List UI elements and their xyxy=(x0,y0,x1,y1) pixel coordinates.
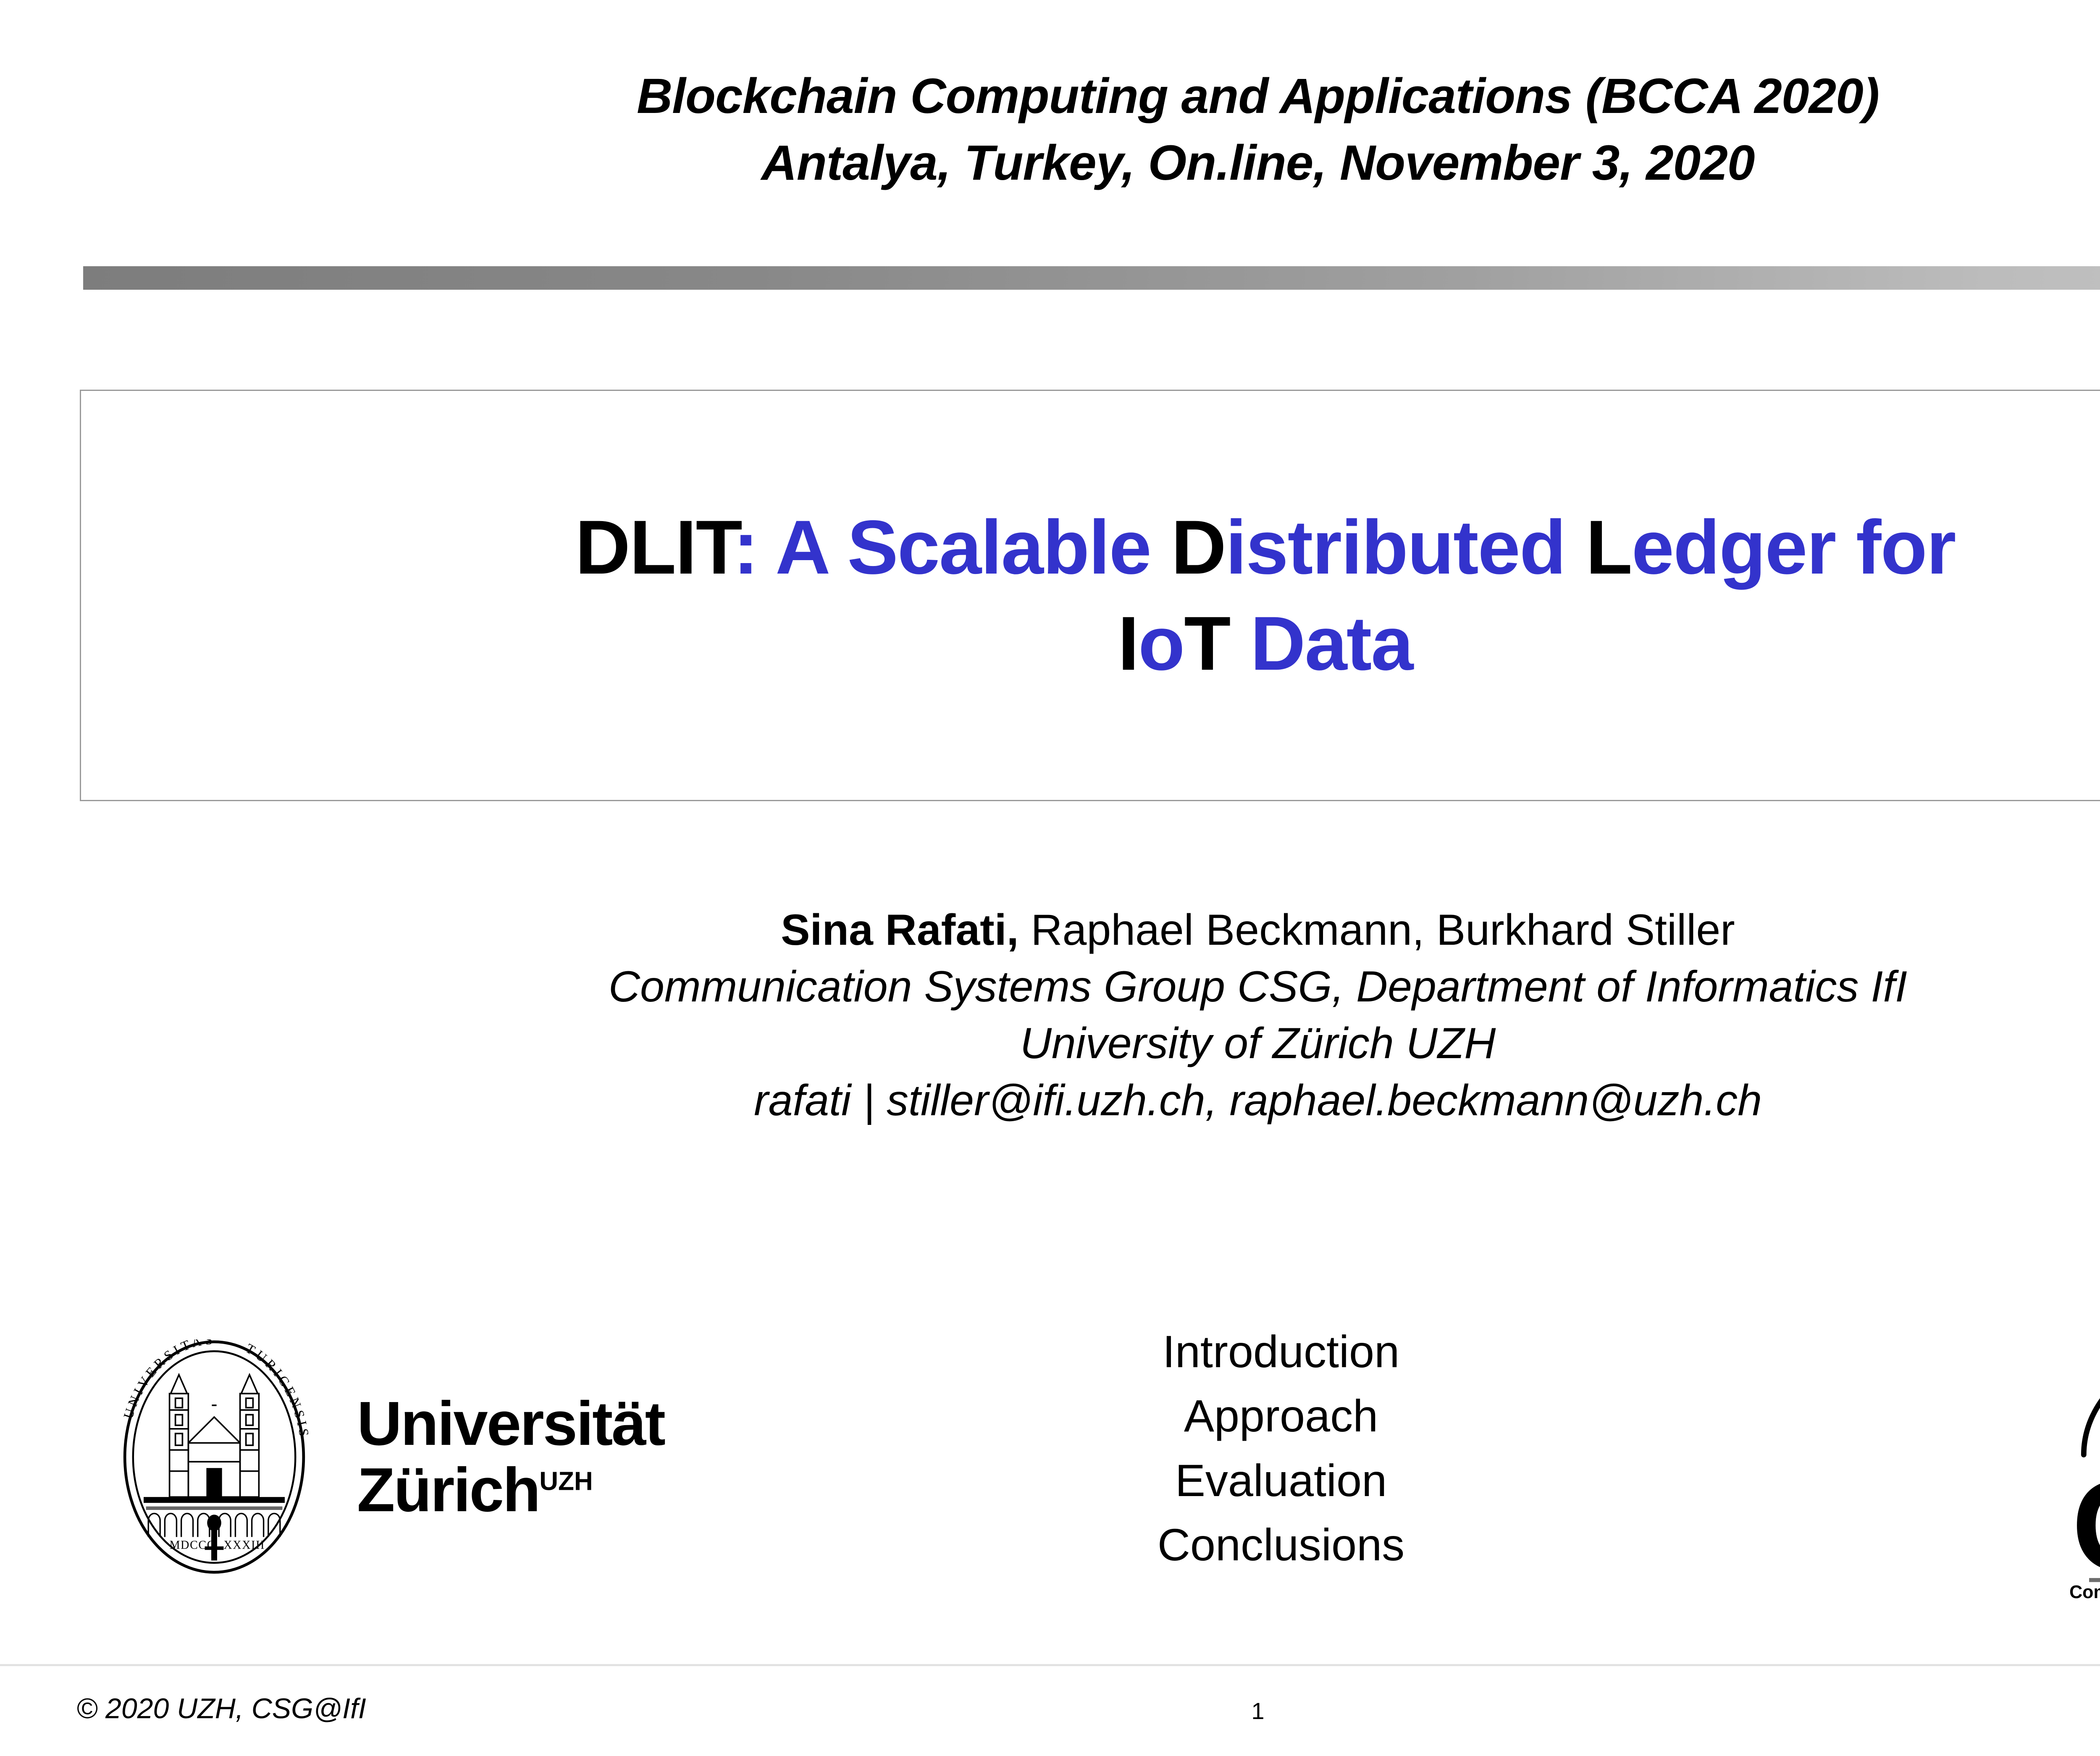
uzh-wordmark-line2: ZürichUZH xyxy=(357,1457,664,1523)
title-segment-a-scalable: : A Scalable xyxy=(733,504,1171,590)
agenda-item-approach[interactable]: Approach xyxy=(1071,1384,1491,1448)
conference-header: Blockchain Computing and Applications (B… xyxy=(0,63,2100,197)
title-box: DLIT: A Scalable Distributed Ledger forI… xyxy=(80,390,2100,801)
title-segment-edger-for: edger for xyxy=(1632,504,1956,590)
author-lead-name: Sina Rafati, xyxy=(781,906,1018,954)
title-segment-o: o xyxy=(1138,600,1184,686)
uzh-logo: UNIVERSITAS TURICENSIS xyxy=(97,1335,861,1579)
title-segment-i: I xyxy=(1118,600,1139,686)
header-gradient-divider xyxy=(83,266,2100,290)
seal-year-right: XXXIII xyxy=(223,1538,265,1552)
uzh-wordmark: Universität ZürichUZH xyxy=(357,1391,664,1524)
csg-acronym-text: CSG xyxy=(2072,1454,2100,1597)
csg-logo: CSG Communication Systems Group xyxy=(2033,1331,2100,1600)
author-other-names: Raphael Beckmann, Burkhard Stiller xyxy=(1019,906,1735,954)
affiliation-line-2: University of Zürich UZH xyxy=(0,1015,2100,1072)
author-names: Sina Rafati, Raphael Beckmann, Burkhard … xyxy=(0,902,2100,959)
title-segment-dlit: DLIT xyxy=(575,504,733,590)
title-segment-l: L xyxy=(1586,504,1632,590)
uzh-wordmark-superscript: UZH xyxy=(539,1467,593,1496)
title-segment-d: D xyxy=(1171,504,1225,590)
csg-logo-icon: CSG Communication Systems Group xyxy=(2033,1331,2100,1600)
seal-year-left: MDCCC xyxy=(170,1538,216,1552)
conference-name: Blockchain Computing and Applications (B… xyxy=(0,63,2100,130)
footer-divider xyxy=(0,1664,2100,1666)
agenda-item-conclusions[interactable]: Conclusions xyxy=(1071,1512,1491,1577)
agenda-item-introduction[interactable]: Introduction xyxy=(1071,1319,1491,1384)
uzh-wordmark-line1: Universität xyxy=(357,1389,664,1458)
uzh-wordmark-zurich: Zürich xyxy=(357,1455,539,1525)
agenda-item-evaluation[interactable]: Evaluation xyxy=(1071,1448,1491,1512)
title-segment-t: T xyxy=(1184,600,1230,686)
conference-location-date: Antalya, Turkey, On.line, November 3, 20… xyxy=(0,130,2100,197)
csg-tagline-text: Communication Systems Group xyxy=(2069,1582,2100,1600)
page-number: 1 xyxy=(0,1697,2100,1725)
title-segment-istributed: istributed xyxy=(1226,504,1586,590)
author-block: Sina Rafati, Raphael Beckmann, Burkhard … xyxy=(0,902,2100,1129)
affiliation-line-1: Communication Systems Group CSG, Departm… xyxy=(0,959,2100,1015)
agenda-list: Introduction Approach Evaluation Conclus… xyxy=(1071,1319,1491,1577)
title-segment-data: Data xyxy=(1230,600,1412,686)
page-title: DLIT: A Scalable Distributed Ledger forI… xyxy=(525,499,2005,692)
uzh-seal-icon: UNIVERSITAS TURICENSIS xyxy=(97,1339,332,1575)
author-emails: rafati | stiller@ifi.uzh.ch, raphael.bec… xyxy=(0,1072,2100,1129)
